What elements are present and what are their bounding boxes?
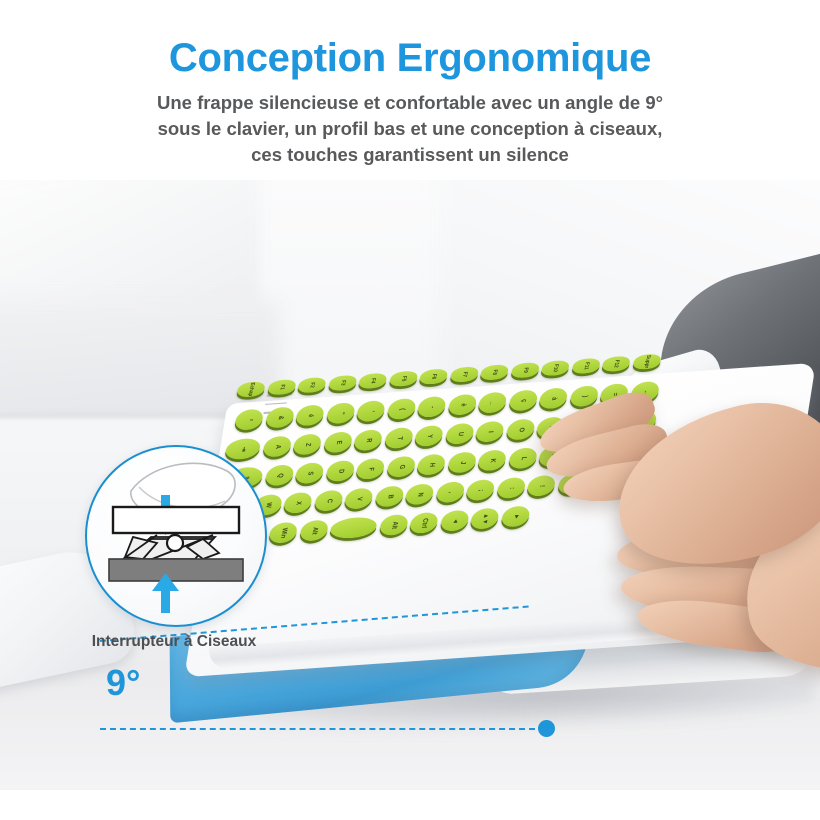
angle-dashed-line-bottom: [100, 728, 545, 730]
angle-label: 9°: [106, 662, 140, 704]
key-legend: à: [547, 387, 559, 410]
key-legend: Echap: [245, 378, 257, 401]
callout-circle: [85, 445, 267, 627]
key-è[interactable]: è: [447, 394, 478, 416]
key-_[interactable]: _: [477, 391, 508, 413]
key-space[interactable]: [329, 516, 379, 540]
key-o[interactable]: O: [505, 418, 536, 440]
key-legend: (: [395, 398, 407, 421]
key-f8[interactable]: F8: [480, 364, 510, 381]
key-f2[interactable]: F2: [297, 377, 327, 394]
key-legend: &: [273, 406, 285, 429]
key-alt[interactable]: Alt: [298, 519, 329, 541]
key-legend: J: [456, 451, 468, 474]
key-f[interactable]: F: [355, 458, 386, 480]
page-title: Conception Ergonomique: [0, 36, 820, 81]
callout-caption: Interrupteur à Ciseaux: [33, 633, 315, 651]
key-legend: Alt: [308, 519, 320, 542]
key-i[interactable]: I: [474, 421, 505, 443]
angle-vertex-dot: [538, 720, 555, 737]
key-legend: Alt: [387, 514, 399, 537]
key-legend: F2: [306, 374, 318, 397]
key-legend: F9: [519, 359, 531, 382]
key-▲▼[interactable]: ▲▼: [469, 507, 500, 529]
key-&[interactable]: &: [264, 406, 295, 428]
key-u[interactable]: U: [444, 423, 475, 445]
key-legend: Ctrl: [418, 512, 430, 535]
key-g[interactable]: G: [385, 456, 416, 478]
key-legend: R: [362, 429, 374, 452]
key-legend: ²: [243, 408, 255, 431]
key-f4[interactable]: F4: [358, 373, 388, 390]
product-photo: EchapF1F2F3F4F5F6F7F8F9F10F11F12Suppr²&é…: [0, 180, 820, 790]
key-h[interactable]: H: [416, 453, 447, 475]
key-legend: X: [292, 492, 304, 515]
key-suppr[interactable]: Suppr: [632, 353, 662, 370]
key-legend: S: [303, 462, 315, 485]
key-ç[interactable]: ç: [507, 389, 538, 411]
key-,[interactable]: ,: [435, 481, 466, 503]
key-legend: F10: [549, 357, 561, 380]
key-legend: O: [514, 418, 526, 441]
subtitle-line-3: ces touches garantissent un silence: [60, 142, 760, 168]
key-◄[interactable]: ◄: [439, 510, 470, 532]
key-legend: F11: [580, 355, 592, 378]
key-legend: ►: [509, 505, 521, 528]
key-:[interactable]: :: [495, 477, 526, 499]
key-l[interactable]: L: [507, 447, 538, 469]
key-legend: L: [516, 447, 528, 470]
key-legend: F8: [488, 361, 500, 384]
key-f12[interactable]: F12: [601, 356, 631, 373]
key-t[interactable]: T: [383, 427, 414, 449]
key-legend: ,: [444, 481, 456, 504]
key-'[interactable]: ': [355, 400, 386, 422]
key-e[interactable]: E: [322, 431, 353, 453]
key-legend: ): [578, 385, 590, 408]
key-f9[interactable]: F9: [510, 362, 540, 379]
key-f5[interactable]: F5: [388, 370, 418, 387]
subtitle-line-1: Une frappe silencieuse et confortable av…: [60, 90, 760, 116]
key-legend: F4: [367, 370, 379, 393]
key-r[interactable]: R: [353, 429, 384, 451]
key-legend: H: [425, 453, 437, 476]
key-legend: G: [395, 455, 407, 478]
header-block: Conception Ergonomique Une frappe silenc…: [0, 0, 820, 180]
key-f3[interactable]: F3: [327, 375, 357, 392]
key-f7[interactable]: F7: [449, 366, 479, 383]
key-;[interactable]: ;: [465, 479, 496, 501]
key-legend: V: [353, 487, 365, 510]
subtitle-text: Une frappe silencieuse et confortable av…: [60, 90, 760, 168]
key-legend: F5: [397, 367, 409, 390]
key-►[interactable]: ►: [500, 505, 531, 527]
key-y[interactable]: Y: [414, 425, 445, 447]
key-s[interactable]: S: [294, 462, 325, 484]
scissor-switch-callout: Interrupteur à Ciseaux: [85, 445, 263, 623]
key-legend: Y: [423, 425, 435, 448]
key-ctrl[interactable]: Ctrl: [408, 512, 439, 534]
key-b[interactable]: B: [374, 485, 405, 507]
key-à[interactable]: à: [538, 387, 569, 409]
key-legend: Q: [273, 464, 285, 487]
key-alt[interactable]: Alt: [378, 514, 409, 536]
key-j[interactable]: J: [446, 451, 477, 473]
key-legend: I: [484, 420, 496, 443]
product-feature-image: Conception Ergonomique Une frappe silenc…: [0, 0, 820, 820]
key-v[interactable]: V: [343, 487, 374, 509]
key-d[interactable]: D: [325, 460, 356, 482]
key-legend: ': [365, 400, 377, 423]
key-legend: N: [413, 483, 425, 506]
key-legend: -: [426, 396, 438, 419]
key-legend: ": [334, 402, 346, 425]
key-n[interactable]: N: [404, 483, 435, 505]
bottom-white-band: [0, 790, 820, 820]
key-win[interactable]: Win: [268, 522, 299, 544]
key-é[interactable]: é: [295, 404, 326, 426]
key-²[interactable]: ²: [234, 408, 265, 430]
key-a[interactable]: A: [261, 435, 292, 457]
key-legend: _: [486, 391, 498, 414]
key-([interactable]: (: [386, 398, 417, 420]
key-legend: B: [383, 485, 395, 508]
key-![interactable]: !: [526, 475, 557, 497]
key-legend: E: [332, 431, 344, 454]
key-legend: F7: [458, 363, 470, 386]
key-q[interactable]: Q: [264, 464, 295, 486]
key-legend: ▲▼: [479, 507, 491, 530]
key-legend: C: [322, 489, 334, 512]
key-f6[interactable]: F6: [419, 368, 449, 385]
key-f1[interactable]: F1: [267, 379, 297, 396]
key-legend: D: [334, 460, 346, 483]
key-legend: ç: [517, 389, 529, 412]
subtitle-line-2: sous le clavier, un profil bas et une co…: [60, 116, 760, 142]
key-x[interactable]: X: [282, 492, 313, 514]
key-legend: [350, 509, 357, 546]
key--[interactable]: -: [416, 396, 447, 418]
key-legend: :: [505, 477, 517, 500]
key-legend: é: [304, 404, 316, 427]
key-legend: !: [535, 475, 547, 498]
key-legend: F1: [275, 376, 287, 399]
key-legend: ;: [474, 479, 486, 502]
key-legend: F12: [610, 353, 622, 376]
key-legend: Suppr: [640, 350, 652, 373]
key-legend: è: [456, 393, 468, 416]
key-legend: F3: [336, 372, 348, 395]
scissor-switch-diagram-icon: [87, 447, 265, 625]
key-z[interactable]: Z: [292, 433, 323, 455]
key-c[interactable]: C: [313, 490, 344, 512]
key-legend: F6: [427, 365, 439, 388]
key-legend: A: [271, 435, 283, 458]
key-legend: U: [453, 422, 465, 445]
key-legend: Z: [301, 433, 313, 456]
key-k[interactable]: K: [477, 449, 508, 471]
key-f10[interactable]: F10: [540, 360, 570, 377]
angle-annotation: 9°: [100, 640, 620, 755]
key-f11[interactable]: F11: [571, 358, 601, 375]
key-"[interactable]: ": [325, 402, 356, 424]
key-echap[interactable]: Echap: [236, 381, 266, 398]
key-legend: F: [364, 458, 376, 481]
key-legend: T: [392, 427, 404, 450]
key-legend: Win: [277, 521, 289, 544]
key-legend: K: [486, 449, 498, 472]
key-legend: ◄: [448, 509, 460, 532]
